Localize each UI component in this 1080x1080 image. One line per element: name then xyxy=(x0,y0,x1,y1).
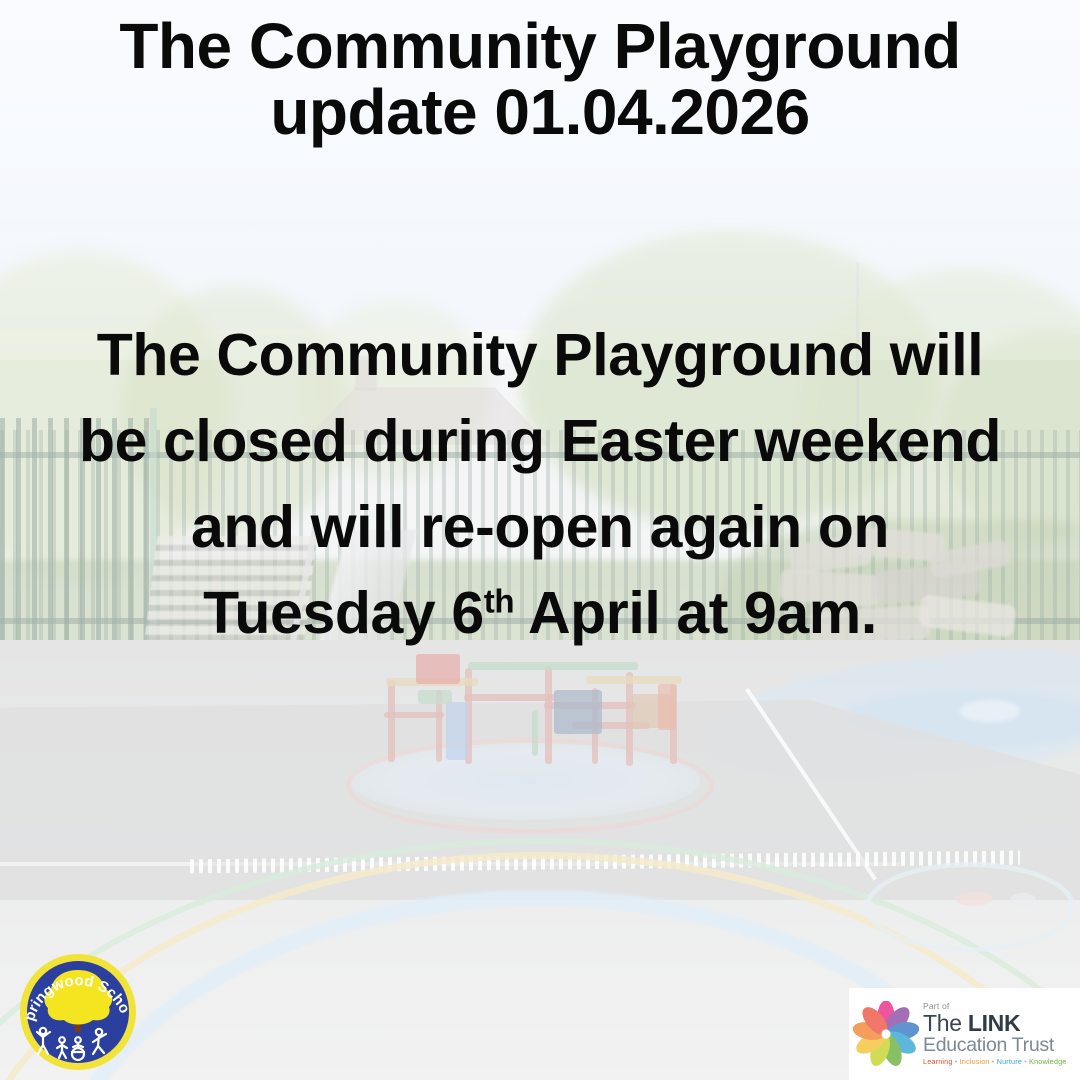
reopen-date-post: April at 9am. xyxy=(514,580,877,646)
text-layer: The Community Playground update 01.04.20… xyxy=(0,0,1080,1080)
body-line-3: and will re-open again on xyxy=(12,484,1068,570)
announcement-body: The Community Playground will be closed … xyxy=(12,312,1068,657)
headline-line-2: update 01.04.2026 xyxy=(0,80,1080,146)
page-title: The Community Playground update 01.04.20… xyxy=(0,14,1080,146)
trust-wordmark: Part of The LINK Education Trust Learnin… xyxy=(923,1002,1067,1065)
body-line-2: be closed during Easter weekend xyxy=(12,398,1068,484)
announcement-poster: The Community Playground update 01.04.20… xyxy=(0,0,1080,1080)
trust-tagline: Learning • Inclusion • Nurture • Knowled… xyxy=(923,1058,1067,1065)
tagline-word-knowledge: Knowledge xyxy=(1029,1057,1066,1066)
tagline-word-learning: Learning xyxy=(923,1057,953,1066)
trust-name-line-1: The LINK xyxy=(923,1012,1067,1035)
springwood-school-logo: Springwood School xyxy=(14,948,142,1076)
the-word: The xyxy=(923,1010,968,1036)
body-line-4: Tuesday 6th April at 9am. xyxy=(12,570,1068,656)
trust-name-line-2: Education Trust xyxy=(923,1036,1067,1056)
link-education-trust-logo: Part of The LINK Education Trust Learnin… xyxy=(849,988,1080,1080)
body-line-1: The Community Playground will xyxy=(12,312,1068,398)
headline-line-1: The Community Playground xyxy=(0,14,1080,80)
link-word: LINK xyxy=(968,1010,1020,1036)
tagline-word-inclusion: Inclusion xyxy=(960,1057,990,1066)
reopen-date-pre: Tuesday 6 xyxy=(203,580,484,646)
ordinal-suffix: th xyxy=(484,584,514,621)
tagline-word-nurture: Nurture xyxy=(997,1057,1022,1066)
school-crest-icon: Springwood School xyxy=(14,948,142,1076)
pinwheel-icon xyxy=(853,1001,919,1067)
